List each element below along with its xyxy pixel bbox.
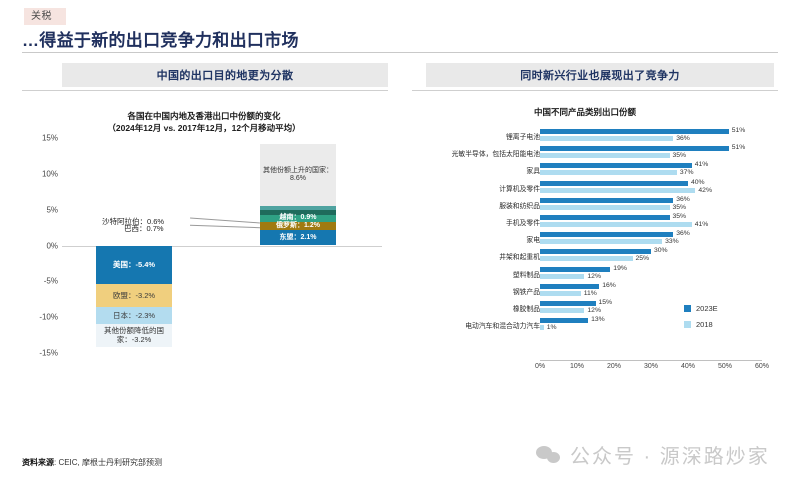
bar-row: 19%12%: [540, 266, 762, 283]
right-chart-plot: 锂离子电池51%36%光敏半导体，包括太阳能电池51%35%家具41%37%计算…: [412, 124, 792, 352]
value-label-2018: 11%: [584, 290, 597, 297]
segment-label: 俄罗斯：1.2%: [274, 222, 322, 231]
value-label-2018: 36%: [676, 135, 690, 142]
bar-2018: [540, 291, 581, 296]
left-chart-title-line2: （2024年12月 vs. 2017年12月，12个月移动平均）: [14, 122, 394, 134]
positive-stack: 其他份额上升的国家： 8.6%越南：0.9%俄罗斯：1.2%东盟：2.1%: [260, 144, 336, 245]
legend-item[interactable]: 2018: [684, 320, 718, 329]
bar-row: 36%33%: [540, 231, 762, 248]
bar-row: 30%25%: [540, 248, 762, 265]
slide: 关税 …得益于新的出口竞争力和出口市场 中国的出口目的地更为分散 同时新兴行业也…: [0, 0, 800, 483]
segment-label: 其他份额降低的国家：-3.2%: [96, 326, 172, 345]
right-chart: 中国不同产品类别出口份额 锂离子电池51%36%光敏半导体，包括太阳能电池51%…: [412, 96, 792, 381]
value-label-2023e: 40%: [691, 179, 705, 186]
segment-label: 美国：-5.4%: [111, 260, 157, 269]
legend: 2023E2018: [684, 304, 718, 336]
bar-row: 51%36%: [540, 128, 762, 145]
category-label: 锂离子电池: [420, 131, 540, 141]
value-label-2018: 12%: [587, 273, 601, 280]
bar-2023e: [540, 249, 651, 254]
y-axis-tick: 0%: [14, 241, 58, 250]
category-label: 电动汽车和混合动力汽车: [420, 320, 540, 330]
value-label-2023e: 30%: [654, 247, 668, 254]
wechat-icon: [536, 445, 562, 465]
bar-2023e: [540, 267, 610, 272]
x-axis-tick: 60%: [755, 363, 769, 370]
bar-2018: [540, 153, 670, 158]
y-axis-tick: -10%: [14, 313, 58, 322]
category-label: 光敏半导体，包括太阳能电池: [420, 148, 540, 158]
source-label: 资料来源: [22, 458, 54, 467]
category-label: 塑料制品: [420, 269, 540, 279]
header-divider: [22, 52, 778, 53]
category-label: 钢铁产品: [420, 286, 540, 296]
positive-stack-segment: 俄罗斯：1.2%: [260, 222, 336, 231]
negative-stack-segment: 欧盟：-3.2%: [96, 284, 172, 307]
bar-2023e: [540, 232, 673, 237]
legend-swatch: [684, 321, 691, 328]
category-label: 橡胶制品: [420, 303, 540, 313]
page-title: …得益于新的出口竞争力和出口市场: [22, 26, 299, 51]
source-note: 资料来源: CEIC, 摩根士丹利研究部预测: [22, 457, 162, 468]
bar-2023e: [540, 129, 729, 134]
y-axis-tick: -5%: [14, 277, 58, 286]
bar-row: 16%11%: [540, 283, 762, 300]
bar-2018: [540, 170, 677, 175]
negative-stack-segment: 日本：-2.3%: [96, 307, 172, 323]
value-label-2018: 41%: [695, 221, 709, 228]
bar-2023e: [540, 146, 729, 151]
value-label-2023e: 36%: [676, 230, 690, 237]
bar-2023e: [540, 215, 670, 220]
bar-2018: [540, 205, 670, 210]
value-label-2023e: 41%: [695, 161, 709, 168]
category-label: 家电: [420, 234, 540, 244]
category-label: 计算机及零件: [420, 183, 540, 193]
bar-row: 51%35%: [540, 145, 762, 162]
value-label-2023e: 51%: [732, 144, 746, 151]
bar-2018: [540, 274, 584, 279]
value-label-2023e: 15%: [599, 299, 613, 306]
bar-row: 35%41%: [540, 214, 762, 231]
left-chart: 各国在中国内地及香港出口中份额的变化 （2024年12月 vs. 2017年12…: [14, 96, 394, 376]
leader-line: [190, 225, 260, 228]
segment-label: 其他份额上升的国家： 8.6%: [261, 167, 335, 185]
bar-row: 40%42%: [540, 180, 762, 197]
category-label: 服装和纺织品: [420, 200, 540, 210]
callout-brazil: 巴西：0.7%: [124, 223, 164, 234]
negative-stack: 美国：-5.4%欧盟：-3.2%日本：-2.3%其他份额降低的国家：-3.2%: [96, 246, 172, 347]
x-axis-tick: 30%: [644, 363, 658, 370]
negative-stack-segment: 其他份额降低的国家：-3.2%: [96, 324, 172, 347]
kicker-tag: 关税: [24, 8, 66, 25]
y-axis-tick: 15%: [14, 134, 58, 143]
bar-2018: [540, 239, 662, 244]
bar-2018: [540, 308, 584, 313]
panel-header-left: 中国的出口目的地更为分散: [62, 63, 388, 87]
value-label-2018: 35%: [673, 152, 687, 159]
panel-underline-left: [22, 90, 388, 91]
panel-header-right: 同时新兴行业也展现出了竞争力: [426, 63, 774, 87]
bar-2023e: [540, 318, 588, 323]
y-axis-tick: -15%: [14, 349, 58, 358]
x-axis: [540, 360, 762, 361]
y-axis-tick: 10%: [14, 169, 58, 178]
bar-2023e: [540, 163, 692, 168]
legend-item[interactable]: 2023E: [684, 304, 718, 313]
left-chart-title: 各国在中国内地及香港出口中份额的变化 （2024年12月 vs. 2017年12…: [14, 110, 394, 134]
segment-label: 日本：-2.3%: [111, 311, 157, 320]
x-axis-tick: 20%: [607, 363, 621, 370]
value-label-2018: 37%: [680, 169, 694, 176]
watermark-label: 公众号 · 源深路炒家: [570, 440, 770, 469]
negative-stack-segment: 美国：-5.4%: [96, 246, 172, 285]
value-label-2018: 42%: [698, 187, 712, 194]
x-axis-tick: 50%: [718, 363, 732, 370]
panel-underline-right: [412, 90, 778, 91]
bar-2018: [540, 136, 673, 141]
bar-2018: [540, 188, 695, 193]
x-axis-tick: 0%: [535, 363, 545, 370]
category-label: 家具: [420, 165, 540, 175]
watermark: 公众号 · 源深路炒家: [536, 440, 770, 469]
bar-2018: [540, 222, 692, 227]
bar-row: 41%37%: [540, 162, 762, 179]
positive-stack-segment: 其他份额上升的国家： 8.6%: [260, 144, 336, 206]
segment-label: 欧盟：-3.2%: [111, 291, 157, 300]
legend-swatch: [684, 305, 691, 312]
legend-label: 2023E: [696, 304, 718, 313]
category-label: 井架和起重机: [420, 251, 540, 261]
bar-2023e: [540, 284, 599, 289]
value-label-2018: 33%: [665, 238, 679, 245]
value-label-2023e: 16%: [602, 282, 616, 289]
positive-stack-segment: 东盟：2.1%: [260, 230, 336, 245]
value-label-2023e: 13%: [591, 316, 605, 323]
bar-2023e: [540, 198, 673, 203]
segment-label: 东盟：2.1%: [278, 234, 319, 243]
leader-line: [190, 217, 260, 223]
panel-header-right-label: 同时新兴行业也展现出了竞争力: [520, 67, 680, 83]
x-axis-tick: 10%: [570, 363, 584, 370]
bar-2023e: [540, 301, 596, 306]
left-chart-plot: 15%10%5%0%-5%-10%-15%美国：-5.4%欧盟：-3.2%日本：…: [14, 138, 394, 353]
bar-row: 15%12%: [540, 300, 762, 317]
bar-row: 13%1%: [540, 317, 762, 334]
left-chart-title-line1: 各国在中国内地及香港出口中份额的变化: [14, 110, 394, 122]
right-chart-title: 中国不同产品类别出口份额: [534, 106, 636, 118]
value-label-2023e: 19%: [613, 265, 627, 272]
y-axis-tick: 5%: [14, 205, 58, 214]
value-label-2023e: 51%: [732, 127, 746, 134]
bar-row: 36%35%: [540, 197, 762, 214]
legend-label: 2018: [696, 320, 713, 329]
panel-header-left-label: 中国的出口目的地更为分散: [157, 67, 294, 83]
value-label-2018: 1%: [547, 324, 557, 331]
category-label: 手机及零件: [420, 217, 540, 227]
value-label-2023e: 35%: [673, 213, 687, 220]
x-axis-tick: 40%: [681, 363, 695, 370]
value-label-2023e: 36%: [676, 196, 690, 203]
bar-2018: [540, 256, 633, 261]
bar-2023e: [540, 181, 688, 186]
source-text: : CEIC, 摩根士丹利研究部预测: [54, 458, 162, 467]
value-label-2018: 25%: [636, 255, 650, 262]
value-label-2018: 35%: [673, 204, 687, 211]
bar-2018: [540, 325, 544, 330]
value-label-2018: 12%: [587, 307, 601, 314]
